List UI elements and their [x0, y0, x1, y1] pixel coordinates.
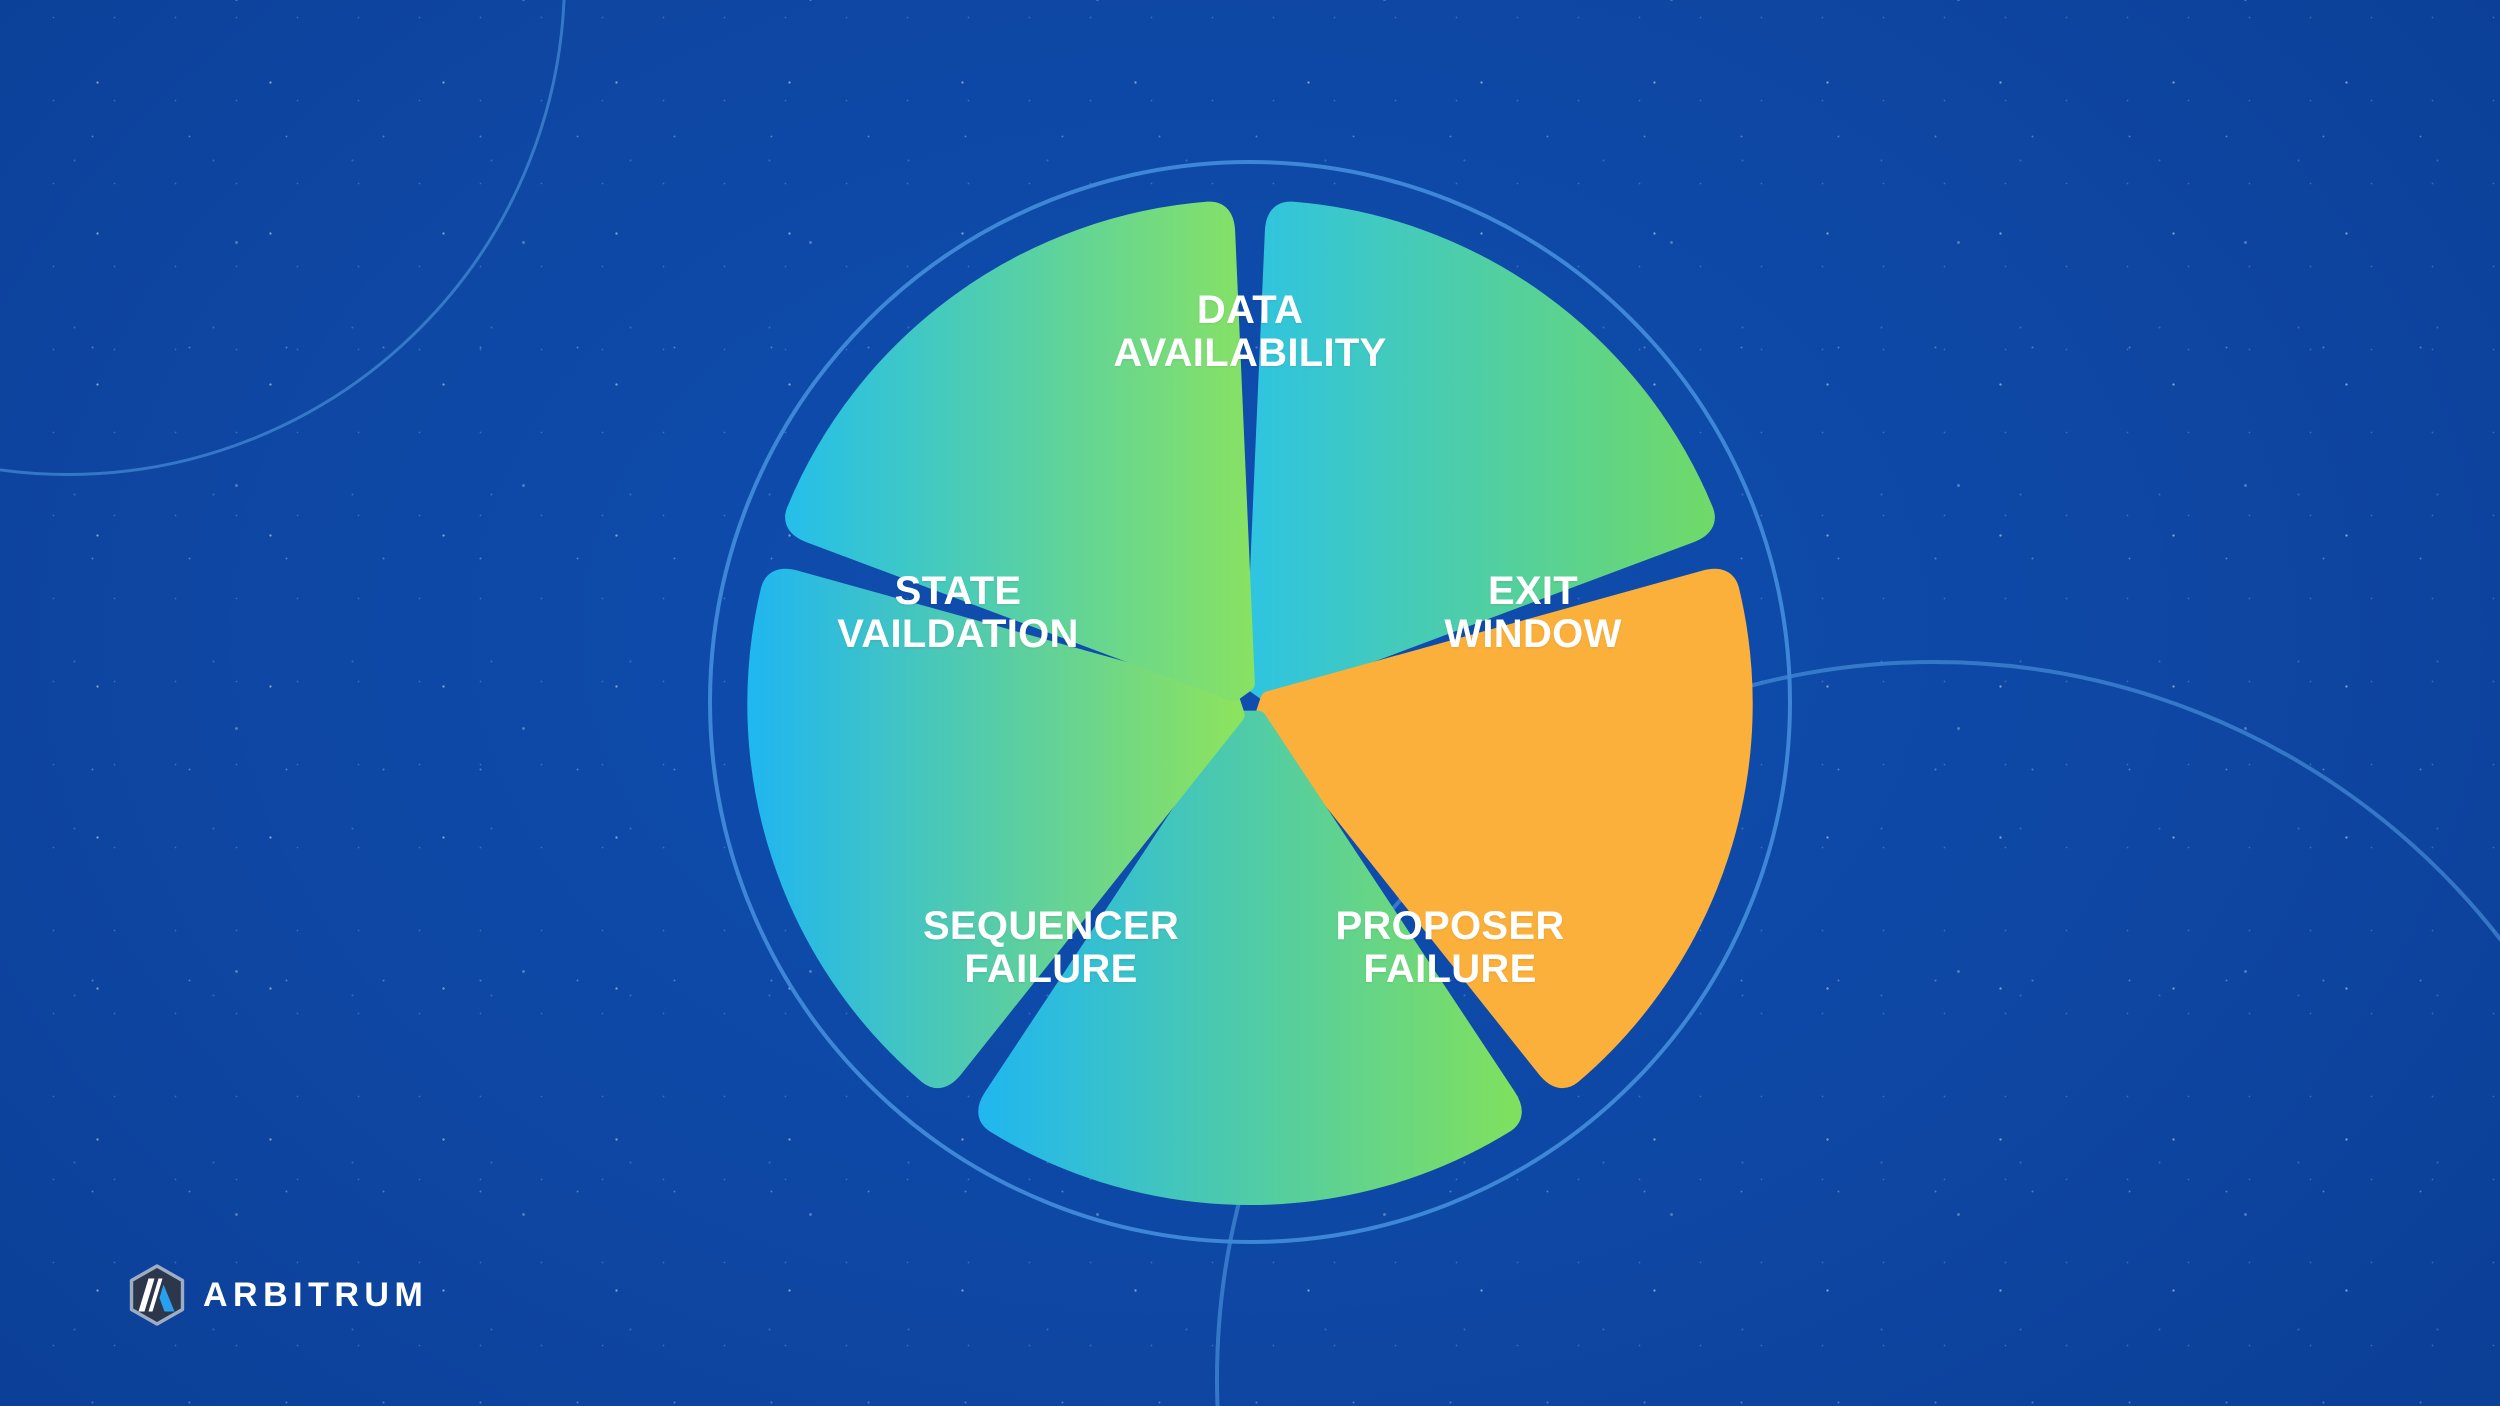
arbitrum-hexagon-logo-icon	[128, 1264, 186, 1326]
pie-chart-svg	[0, 0, 2500, 1406]
pie-slices	[756, 211, 1743, 1196]
pie-chart: DATA AVAILABILITYEXIT WINDOWPROPOSER FAI…	[0, 0, 2500, 1406]
arbitrum-brand-lockup: ARBITRUM	[128, 1264, 428, 1326]
arbitrum-wordmark: ARBITRUM	[203, 1276, 428, 1315]
canvas: DATA AVAILABILITYEXIT WINDOWPROPOSER FAI…	[0, 0, 2500, 1406]
